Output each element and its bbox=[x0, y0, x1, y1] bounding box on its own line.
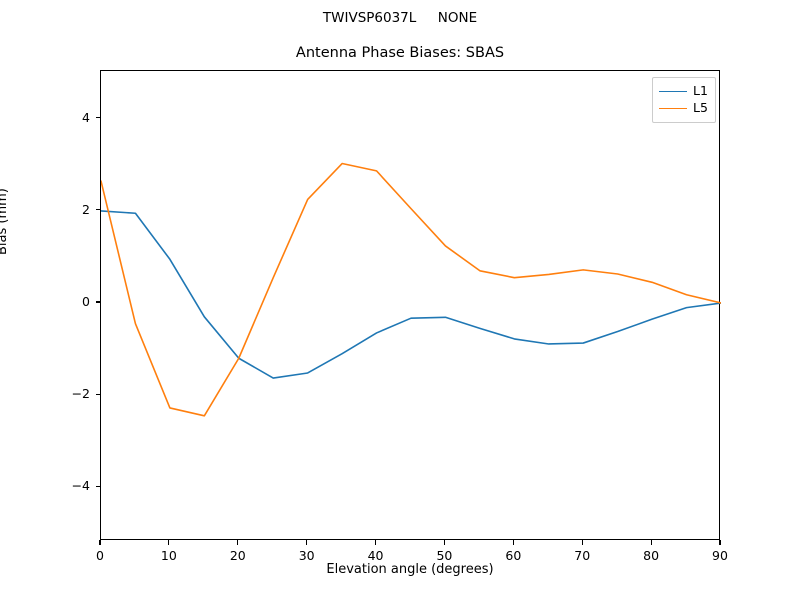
legend-color-swatch bbox=[659, 91, 687, 92]
x-tick-label: 30 bbox=[287, 548, 327, 563]
legend-label: L5 bbox=[693, 102, 708, 115]
x-tick-label: 40 bbox=[356, 548, 396, 563]
x-tick-label: 60 bbox=[493, 548, 533, 563]
legend-item-l1[interactable]: L1 bbox=[659, 83, 708, 100]
x-tick-label: 50 bbox=[424, 548, 464, 563]
y-tick-label: −4 bbox=[44, 478, 90, 493]
x-axis-label: Elevation angle (degrees) bbox=[100, 562, 720, 577]
x-tick-label: 80 bbox=[631, 548, 671, 563]
series-line-l1 bbox=[101, 211, 721, 378]
plot-area bbox=[100, 70, 720, 540]
legend-item-l5[interactable]: L5 bbox=[659, 100, 708, 117]
y-axis-label: Bias (mm) bbox=[0, 188, 10, 255]
y-tick-label: 4 bbox=[44, 110, 90, 125]
y-tick-label: −2 bbox=[44, 386, 90, 401]
x-tick-label: 90 bbox=[700, 548, 740, 563]
figure-canvas: TWIVSP6037L NONE Antenna Phase Biases: S… bbox=[0, 0, 800, 600]
figure-suptitle: TWIVSP6037L NONE bbox=[0, 10, 800, 26]
legend: L1L5 bbox=[652, 77, 716, 123]
chart-title: Antenna Phase Biases: SBAS bbox=[0, 45, 800, 61]
x-tick-label: 10 bbox=[149, 548, 189, 563]
legend-label: L1 bbox=[693, 85, 708, 98]
y-tick-label: 2 bbox=[44, 202, 90, 217]
x-tick-label: 20 bbox=[218, 548, 258, 563]
series-line-l5 bbox=[101, 164, 721, 416]
x-tick-label: 70 bbox=[562, 548, 602, 563]
legend-color-swatch bbox=[659, 108, 687, 109]
x-tick-label: 0 bbox=[80, 548, 120, 563]
y-tick-label: 0 bbox=[44, 294, 90, 309]
data-lines bbox=[101, 71, 721, 541]
